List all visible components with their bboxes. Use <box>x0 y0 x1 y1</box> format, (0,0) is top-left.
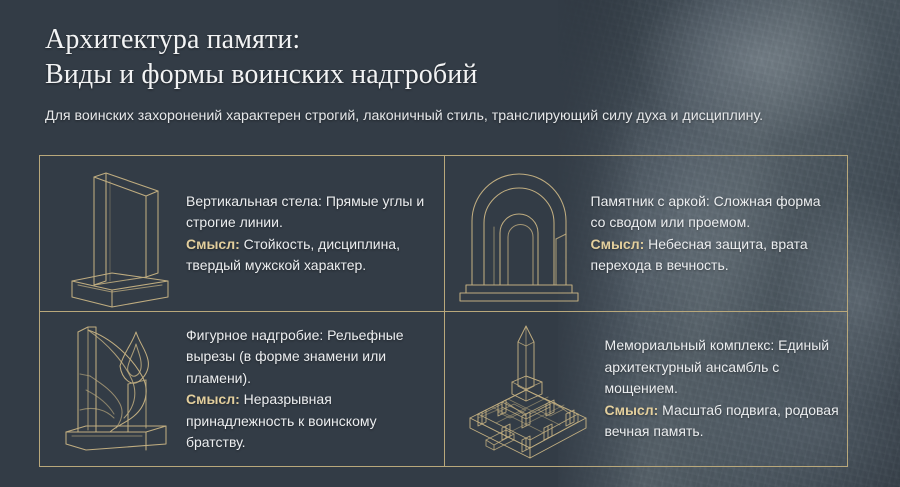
table-cell-arch-monument: Памятник с аркой: Сложная форма со сводо… <box>444 156 848 311</box>
table-cell-vertical-stele: Вертикальная стела: Прямые углы и строги… <box>40 156 444 311</box>
vertical-stele-icon <box>46 159 182 309</box>
monument-types-table: Вертикальная стела: Прямые углы и строги… <box>39 155 848 467</box>
meaning-label: Смысл: <box>186 236 240 252</box>
arch-monument-icon <box>451 159 587 309</box>
slide-canvas: Архитектура памяти: Виды и формы воински… <box>0 0 900 487</box>
meaning-label: Смысл: <box>591 236 645 252</box>
table-cell-memorial-complex: Мемориальный комплекс: Единый архитектур… <box>444 311 848 466</box>
meaning-label: Смысл: <box>186 391 240 407</box>
slide-content: Архитектура памяти: Виды и формы воински… <box>0 0 900 487</box>
title-line-1: Архитектура памяти: <box>45 24 300 55</box>
card-title: Памятник с аркой: <box>591 193 710 209</box>
card-description-arch-monument: Памятник с аркой: Сложная форма со сводо… <box>591 191 840 277</box>
card-description-memorial-complex: Мемориальный комплекс: Единый архитектур… <box>605 335 840 443</box>
card-title: Вертикальная стела: <box>186 193 322 209</box>
page-title: Архитектура памяти: Виды и формы воински… <box>45 22 477 92</box>
title-line-2: Виды и формы воинских надгробий <box>45 59 477 90</box>
card-title: Мемориальный комплекс: <box>605 337 775 353</box>
card-title: Фигурное надгробие: <box>186 327 323 343</box>
memorial-complex-icon <box>451 311 601 466</box>
card-description-figured-headstone: Фигурное надгробие: Рельефные вырезы (в … <box>186 325 436 454</box>
card-description-vertical-stele: Вертикальная стела: Прямые углы и строги… <box>186 191 436 277</box>
table-cell-figured-headstone: Фигурное надгробие: Рельефные вырезы (в … <box>40 311 444 466</box>
page-subtitle: Для воинских захоронений характерен стро… <box>45 105 785 127</box>
figured-headstone-icon <box>46 314 182 464</box>
meaning-label: Смысл: <box>605 402 659 418</box>
